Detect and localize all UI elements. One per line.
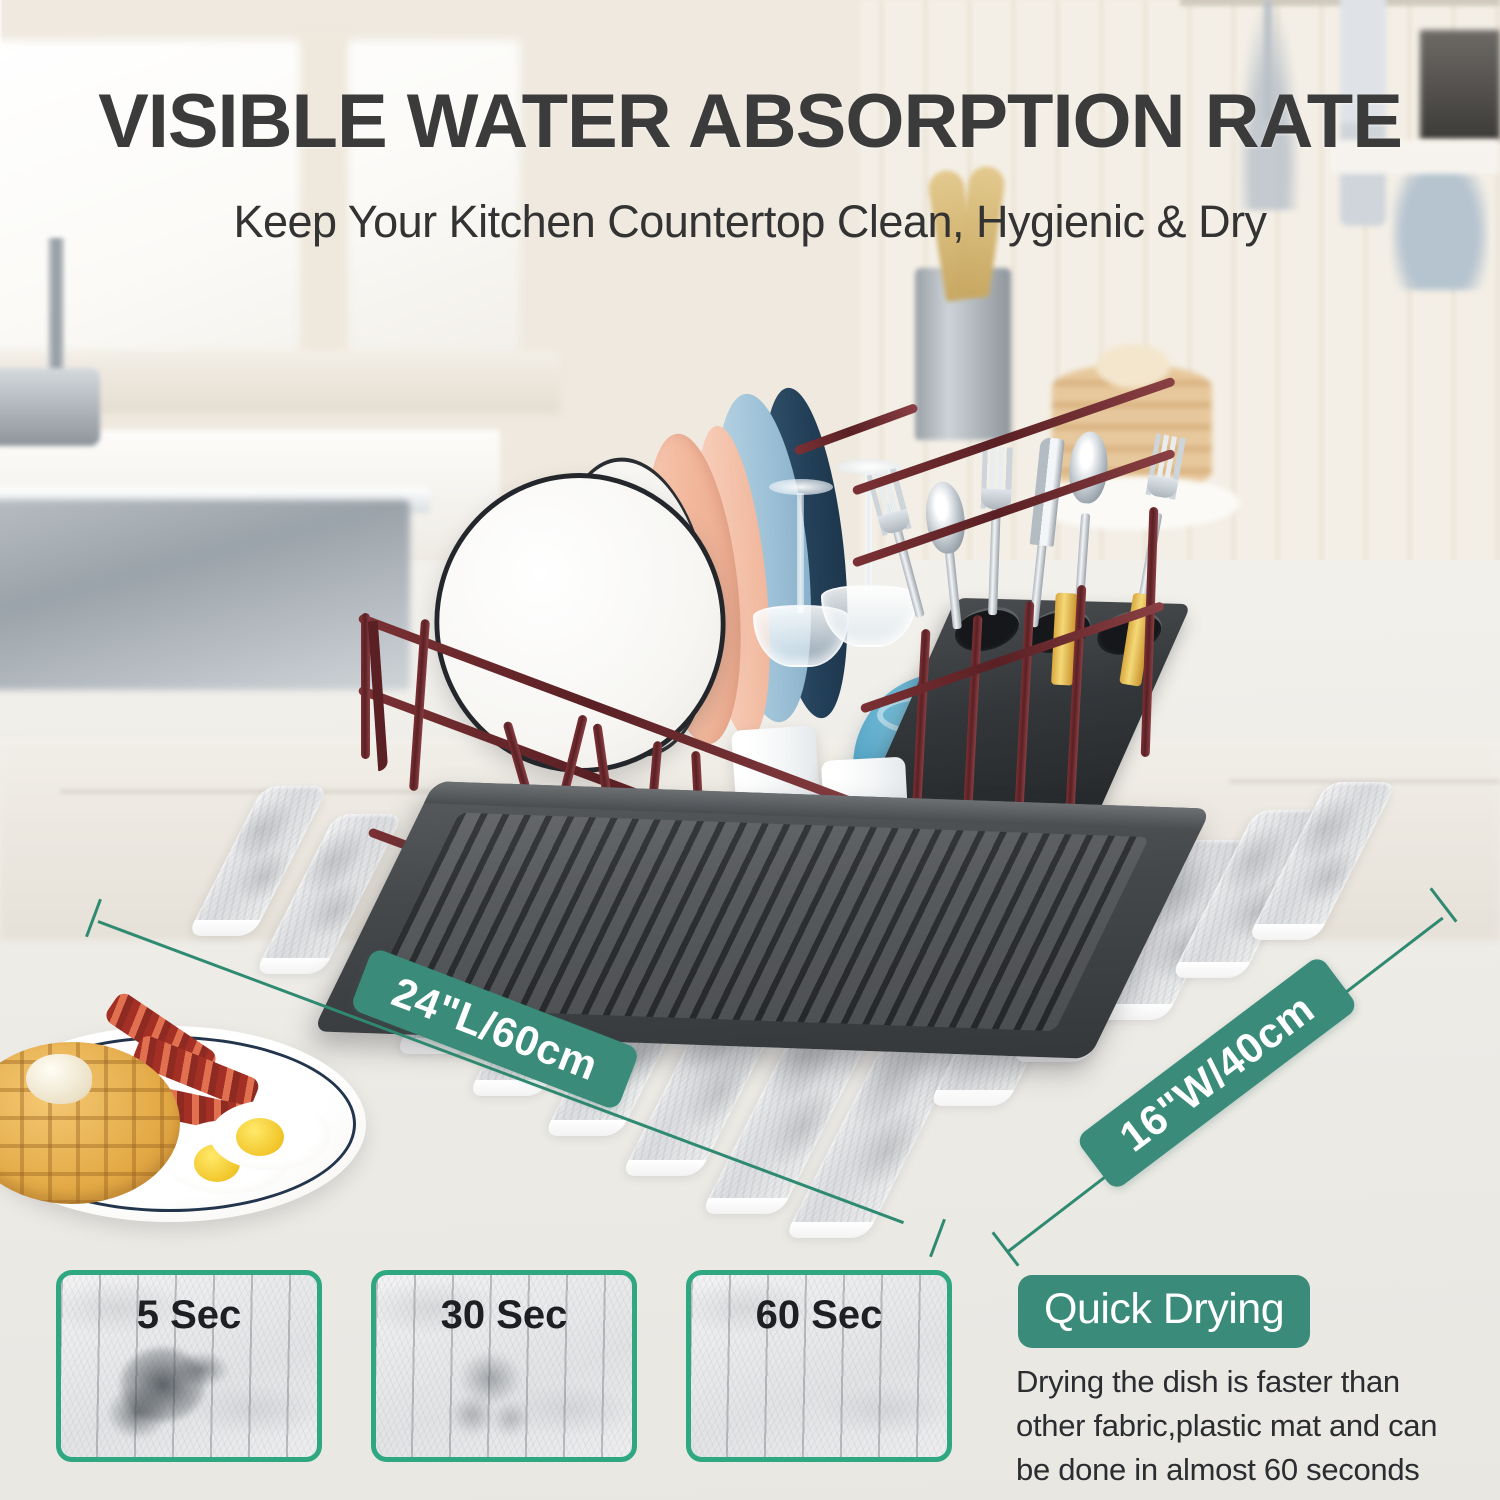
dish-drying-rack [355, 415, 1175, 1055]
page-title: VISIBLE WATER ABSORPTION RATE [0, 78, 1500, 165]
basket-bottom-rail-right [860, 601, 1165, 714]
absorption-card: 5 Sec [56, 1270, 322, 1462]
absorption-card-label: 60 Sec [691, 1293, 947, 1338]
breakfast-plate [0, 992, 374, 1228]
water-stain [101, 1337, 241, 1445]
butter-pat [26, 1054, 92, 1104]
absorption-card-label: 30 Sec [376, 1293, 632, 1338]
quick-drying-badge: Quick Drying [1018, 1275, 1310, 1348]
quick-drying-description: Drying the dish is faster than other fab… [1016, 1360, 1456, 1492]
page-subtitle: Keep Your Kitchen Countertop Clean, Hygi… [0, 196, 1500, 248]
basket-right-wire [1065, 585, 1087, 829]
absorption-card: 60 Sec [686, 1270, 952, 1462]
egg-yolk [236, 1118, 284, 1156]
product-infographic: 24"L/60cm 16"W/40cm VISIBLE WATER ABSORP… [0, 0, 1500, 1500]
absorption-card-label: 5 Sec [61, 1293, 317, 1338]
absorption-card: 30 Sec [371, 1270, 637, 1462]
water-stain [432, 1347, 544, 1439]
